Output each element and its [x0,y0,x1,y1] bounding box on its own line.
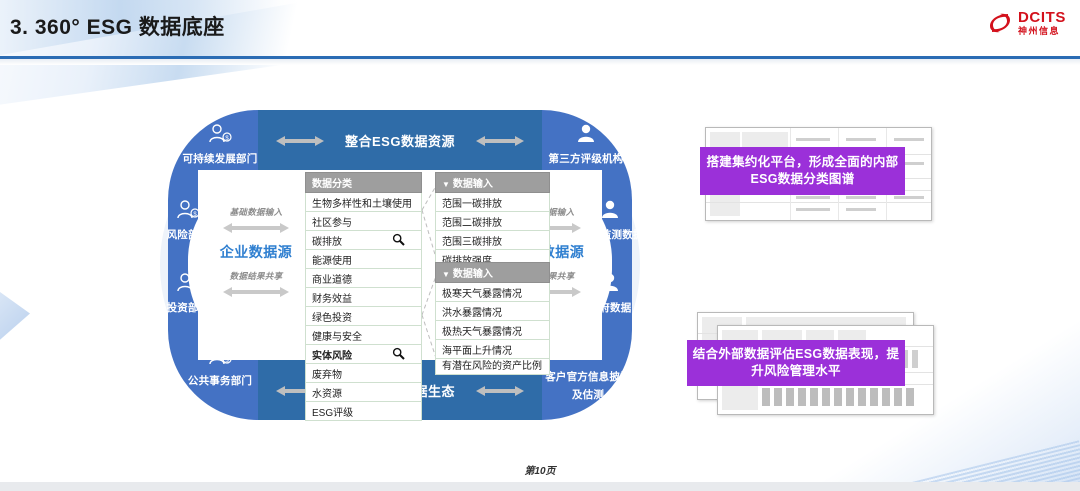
table-row[interactable]: 范围三碳排放 [435,231,550,250]
persona-label: 公共事务部门 [188,375,252,387]
magnifier-icon[interactable] [392,233,405,246]
row-label: 能源使用 [312,256,352,267]
table-row[interactable]: 绿色投资 [305,307,422,326]
persona-label: 投资部门 [167,302,210,314]
left-edge-arrow-decoration [0,282,30,352]
table-row[interactable]: 社区参与 [305,212,422,231]
table-row[interactable]: ESG评级 [305,402,422,421]
header-label: 数据输入 [453,179,493,190]
band-integrate-resources: 整合ESG数据资源 [258,110,542,170]
table-row[interactable]: 范围一碳排放 [435,193,550,212]
double-arrow-icon-left-share [208,284,304,302]
table-row-carbon[interactable]: 碳排放 [305,231,422,250]
bottom-grey-bar [0,482,1080,491]
table-header-input-carbon[interactable]: ▼数据输入 [435,172,550,193]
callout-bottom: 结合外部数据评估ESG数据表现，提升风险管理水平 [687,340,905,386]
table-row[interactable]: 洪水暴露情况 [435,302,550,321]
table-row[interactable]: 生物多样性和土壤使用 [305,193,422,212]
person-money-icon: $ [174,346,266,370]
row-label: 健康与安全 [312,332,362,343]
caret-down-icon: ▼ [442,270,450,279]
page-number: 第10页 [0,462,1080,477]
table-row[interactable]: 有潜在风险的资产比例 [435,359,550,375]
dcits-swirl-icon [987,10,1013,36]
table-row[interactable]: 水资源 [305,383,422,402]
row-label: 绿色投资 [312,313,352,324]
enterprise-data-source-group: 基础数据输入 企业数据源 数据结果共享 [208,206,304,306]
company-logo: DCITS 神州信息 [987,10,1066,36]
table-header-input-physical[interactable]: ▼数据输入 [435,262,550,283]
table-row[interactable]: 范围二碳排放 [435,212,550,231]
persona-label: 风险部门 [167,229,210,241]
double-arrow-icon-top-right [476,136,524,146]
table-row[interactable]: 废弃物 [305,364,422,383]
table-row[interactable]: 极寒天气暴露情况 [435,283,550,302]
table-row[interactable]: 商业道德 [305,269,422,288]
persona-third-party-rating: 第三方评级机构 [540,124,632,167]
table-row-physical-risk[interactable]: 实体风险 [305,345,422,364]
row-label: ESG评级 [312,408,353,419]
row-label: 废弃物 [312,370,342,381]
row-label: 水资源 [312,389,342,400]
logo-text-en: DCITS [1018,10,1066,25]
caret-down-icon: ▼ [442,180,450,189]
header-divider-shadow [0,59,1080,65]
double-arrow-icon-left-input [208,220,304,238]
callout-top: 搭建集约化平台，形成全面的内部ESG数据分类图谱 [700,147,905,195]
row-label: 实体风险 [312,351,352,362]
slide-page: 3. 360° ESG 数据底座 DCITS 神州信息 整合ESG数据资源 [0,0,1080,491]
table-row[interactable]: 健康与安全 [305,326,422,345]
table-body-category: 生物多样性和土壤使用 社区参与 碳排放 能源使用 商业道德 财务效益 绿色投资 … [305,193,422,421]
row-label: 碳排放 [312,237,342,248]
logo-text-cn: 神州信息 [1018,27,1066,36]
slide-header: 3. 360° ESG 数据底座 DCITS 神州信息 [0,0,1080,56]
row-label: 商业道德 [312,275,352,286]
enterprise-input-note: 基础数据输入 [208,206,304,218]
row-label: 社区参与 [312,218,352,229]
table-row[interactable]: 海平面上升情况 [435,340,550,359]
persona-label: 可持续发展部门 [183,153,258,165]
persona-customer-disclosure: 客户官方信息披露及估测 [542,342,634,403]
person-icon [542,342,634,366]
esg-data-foundation-diagram: 整合ESG数据资源 形成ESG数据生态 $ 可持续发展部门 [160,110,640,420]
double-arrow-icon-bottom-right [476,386,524,396]
table-data-category: 数据分类 生物多样性和土壤使用 社区参与 碳排放 能源使用 商业道德 财务效益 … [305,172,422,421]
page-title: 3. 360° ESG 数据底座 [10,11,225,41]
person-icon [540,124,632,148]
row-label: 财务效益 [312,294,352,305]
persona-public-affairs-dept: $ 公共事务部门 [174,346,266,389]
table-row[interactable]: 能源使用 [305,250,422,269]
table-header-category: 数据分类 [305,172,422,193]
enterprise-share-note: 数据结果共享 [208,270,304,282]
table-row[interactable]: 极热天气暴露情况 [435,321,550,340]
persona-label: 第三方评级机构 [549,153,624,165]
row-label: 生物多样性和土壤使用 [312,199,412,210]
persona-label: 客户官方信息披露及估测 [545,371,631,401]
table-data-input-physical: ▼数据输入 极寒天气暴露情况 洪水暴露情况 极热天气暴露情况 海平面上升情况 有… [435,262,550,375]
person-money-icon: $ [174,124,266,148]
header-label: 数据输入 [453,269,493,280]
table-row[interactable]: 财务效益 [305,288,422,307]
persona-sustainability-dept: $ 可持续发展部门 [174,124,266,167]
magnifier-icon[interactable] [392,347,405,360]
enterprise-data-source-title: 企业数据源 [208,242,304,262]
